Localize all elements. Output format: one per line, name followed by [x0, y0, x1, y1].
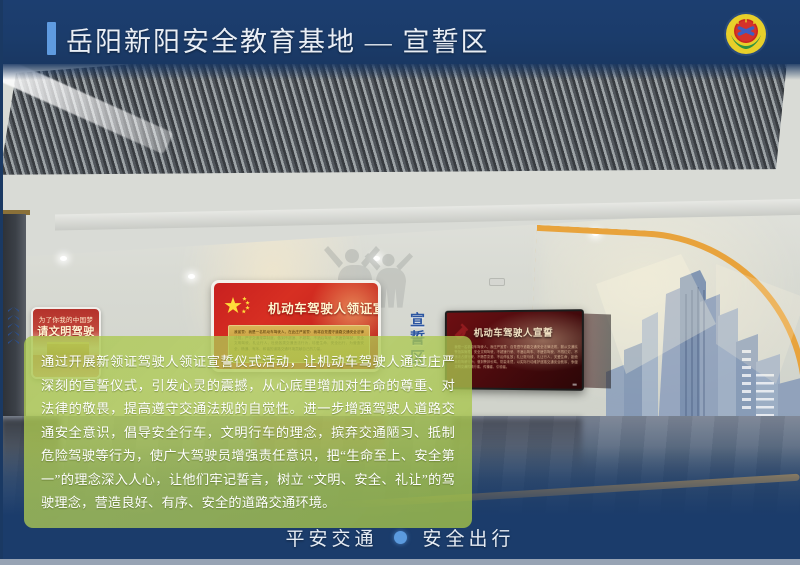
header-accent-bar — [47, 22, 56, 55]
tv-body-text: 我是一名机动车驾驶人，我庄严宣誓：自觉遵守道路交通安全法律法规，服从交通民警指挥… — [454, 345, 577, 386]
china-flag-icon — [224, 295, 264, 319]
wall-sensor — [489, 278, 505, 286]
city-skyline-mural — [596, 254, 800, 429]
oath-poster-title: 机动车驾驶人领证宣誓誓词 — [268, 298, 381, 317]
page-footer: 平安交通 安全出行 — [0, 516, 800, 559]
sign-char-1: 宣 — [410, 312, 426, 330]
wall-side-panel — [583, 314, 611, 389]
tv-title-text: 机动车驾驶人宣誓 — [474, 325, 553, 339]
chevron-arrows-icon — [8, 307, 19, 347]
photo-top-fade — [0, 64, 800, 80]
footer-separator-dot — [394, 531, 407, 544]
ceiling-spotlight — [188, 274, 195, 279]
traffic-police-emblem-icon — [722, 10, 770, 58]
footer-slogan-right: 安全出行 — [423, 524, 515, 551]
page-header: 岳阳新阳安全教育基地 — 宣誓区 — [0, 0, 800, 66]
caption-box: 通过开展新领证驾驶人领证宣誓仪式活动，让机动车驾驶人通过庄严深刻的宣誓仪式，引发… — [24, 336, 472, 528]
frame-left-border — [0, 0, 3, 565]
poster-page: 岳阳新阳安全教育基地 — 宣誓区 — [0, 0, 800, 565]
page-title: 岳阳新阳安全教育基地 — 宣誓区 — [66, 20, 490, 59]
ceiling-spotlight — [60, 256, 67, 261]
frame-bottom-border — [0, 559, 800, 565]
tv-indicator-led — [573, 384, 577, 386]
footer-slogan-left: 平安交通 — [285, 524, 377, 551]
